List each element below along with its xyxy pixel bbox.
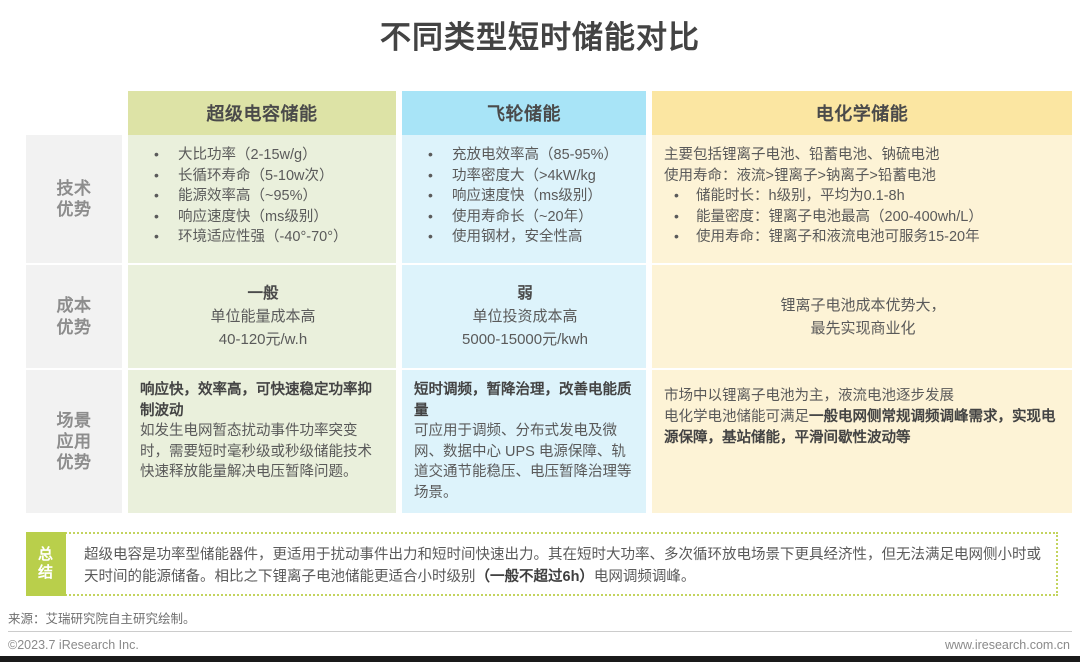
column-header-flywheel: 飞轮储能	[402, 91, 646, 135]
summary-body: 超级电容是功率型储能器件，更适用于扰动事件出力和短时间快速出力。其在短时大功率、…	[66, 534, 1056, 594]
cost-rating: 弱	[517, 283, 533, 305]
summary-tab-text: 总结	[38, 546, 54, 582]
list-item: 使用钢材，安全性高	[414, 227, 636, 248]
cell-cost-electrochemical: 锂离子电池成本优势大， 最先实现商业化	[652, 265, 1072, 368]
cost-supercapacitor-block: 一般 单位能量成本高 40-120元/w.h	[140, 275, 386, 358]
scenario-body: 市场中以锂离子电池为主，液流电池逐步发展	[664, 386, 1062, 407]
bottom-bar	[0, 656, 1080, 662]
scenario-headline: 短时调频，暂降治理，改善电能质量	[414, 380, 636, 421]
list-item: 能量密度：锂离子电池最高（200-400wh/L）	[664, 207, 1062, 228]
scenario-plain-fragment: 电化学电池储能可满足	[664, 409, 809, 425]
cell-tech-flywheel: 充放电效率高（85-95%） 功率密度大（>4kW/kg 响应速度快（ms级别）…	[402, 135, 646, 263]
slide-canvas: 不同类型短时储能对比 超级电容储能 飞轮储能 电化学储能 技术优势 大比功率（2…	[0, 0, 1080, 662]
summary-fragment-bold: （一般不超过6h）	[476, 569, 594, 585]
cell-cost-flywheel: 弱 单位投资成本高 5000-15000元/kwh	[402, 265, 646, 368]
tech-electrochemical-list: 储能时长：h级别，平均为0.1-8h 能量密度：锂离子电池最高（200-400w…	[664, 186, 1062, 248]
row-label-technical-advantage: 技术优势	[26, 135, 122, 263]
scenario-body: 可应用于调频、分布式发电及微网、数据中心 UPS 电源保障、轨道交通节能稳压、电…	[414, 421, 636, 503]
scenario-flywheel-text: 短时调频，暂降治理，改善电能质量 可应用于调频、分布式发电及微网、数据中心 UP…	[414, 380, 636, 503]
source-note: 来源：艾瑞研究院自主研究绘制。	[8, 608, 196, 627]
list-item: 充放电效率高（85-95%）	[414, 145, 636, 166]
website-text: www.iresearch.com.cn	[945, 638, 1070, 652]
row-label-scenario-advantage: 场景应用优势	[26, 370, 122, 513]
list-item: 使用寿命长（~20年）	[414, 207, 636, 228]
footer-divider	[8, 631, 1072, 632]
cell-scenario-flywheel: 短时调频，暂降治理，改善电能质量 可应用于调频、分布式发电及微网、数据中心 UP…	[402, 370, 646, 513]
cell-tech-electrochemical: 主要包括锂离子电池、铅蓄电池、钠硫电池 使用寿命：液流>锂离子>钠离子>铅蓄电池…	[652, 135, 1072, 263]
tech-flywheel-list: 充放电效率高（85-95%） 功率密度大（>4kW/kg 响应速度快（ms级别）…	[414, 145, 636, 248]
scenario-electrochemical-text: 市场中以锂离子电池为主，液流电池逐步发展 电化学电池储能可满足一般电网侧常规调频…	[664, 380, 1062, 449]
scenario-headline: 响应快，效率高，可快速稳定功率抑制波动	[140, 380, 386, 421]
table-corner-spacer	[26, 91, 122, 135]
row-label-technical-advantage-text: 技术优势	[57, 178, 92, 221]
cost-detail-line: 40-120元/w.h	[219, 328, 307, 351]
list-item: 使用寿命：锂离子和液流电池可服务15-20年	[664, 227, 1062, 248]
list-item: 大比功率（2-15w/g）	[140, 145, 386, 166]
list-item: 储能时长：h级别，平均为0.1-8h	[664, 186, 1062, 207]
tech-electrochemical-line-2: 使用寿命：液流>锂离子>钠离子>铅蓄电池	[664, 166, 1062, 187]
cost-detail-line: 5000-15000元/kwh	[462, 328, 588, 351]
cost-detail-line: 锂离子电池成本优势大，	[780, 294, 945, 317]
cost-flywheel-block: 弱 单位投资成本高 5000-15000元/kwh	[414, 275, 636, 358]
row-label-cost-advantage: 成本优势	[26, 265, 122, 368]
cost-electrochemical-block: 锂离子电池成本优势大， 最先实现商业化	[664, 275, 1062, 358]
scenario-body: 如发生电网暂态扰动事件功率突变时，需要短时毫秒级或秒级储能技术快速释放能量解决电…	[140, 421, 386, 483]
row-label-scenario-advantage-text: 场景应用优势	[57, 410, 92, 474]
summary-tab-label: 总结	[26, 532, 66, 596]
list-item: 响应速度快（ms级别）	[140, 207, 386, 228]
list-item: 能源效率高（~95%）	[140, 186, 386, 207]
page-title: 不同类型短时储能对比	[0, 12, 1080, 57]
column-header-supercapacitor: 超级电容储能	[128, 91, 396, 135]
cell-scenario-supercapacitor: 响应快，效率高，可快速稳定功率抑制波动 如发生电网暂态扰动事件功率突变时，需要短…	[128, 370, 396, 513]
cost-detail-line: 单位投资成本高	[472, 305, 577, 328]
copyright-text: ©2023.7 iResearch Inc.	[8, 638, 139, 652]
cost-rating: 一般	[247, 283, 278, 305]
tech-supercapacitor-list: 大比功率（2-15w/g） 长循环寿命（5-10w次） 能源效率高（~95%） …	[140, 145, 386, 248]
list-item: 环境适应性强（-40°-70°）	[140, 227, 386, 248]
cell-tech-supercapacitor: 大比功率（2-15w/g） 长循环寿命（5-10w次） 能源效率高（~95%） …	[128, 135, 396, 263]
summary-fragment-2: 电网调频调峰。	[594, 569, 696, 585]
cell-scenario-electrochemical: 市场中以锂离子电池为主，液流电池逐步发展 电化学电池储能可满足一般电网侧常规调频…	[652, 370, 1072, 513]
scenario-supercapacitor-text: 响应快，效率高，可快速稳定功率抑制波动 如发生电网暂态扰动事件功率突变时，需要短…	[140, 380, 386, 483]
cell-cost-supercapacitor: 一般 单位能量成本高 40-120元/w.h	[128, 265, 396, 368]
scenario-mixed-line: 电化学电池储能可满足一般电网侧常规调频调峰需求，实现电源保障，基站储能，平滑间歇…	[664, 407, 1062, 449]
cost-detail-line: 单位能量成本高	[210, 305, 315, 328]
column-header-electrochemical: 电化学储能	[652, 91, 1072, 135]
comparison-table: 超级电容储能 飞轮储能 电化学储能 技术优势 大比功率（2-15w/g） 长循环…	[26, 91, 1058, 513]
cost-detail-line: 最先实现商业化	[780, 317, 945, 340]
list-item: 响应速度快（ms级别）	[414, 186, 636, 207]
list-item: 功率密度大（>4kW/kg	[414, 166, 636, 187]
summary-box: 总结 超级电容是功率型储能器件，更适用于扰动事件出力和短时间快速出力。其在短时大…	[26, 532, 1058, 596]
list-item: 长循环寿命（5-10w次）	[140, 166, 386, 187]
row-label-cost-advantage-text: 成本优势	[57, 295, 92, 338]
tech-electrochemical-line-1: 主要包括锂离子电池、铅蓄电池、钠硫电池	[664, 145, 1062, 166]
